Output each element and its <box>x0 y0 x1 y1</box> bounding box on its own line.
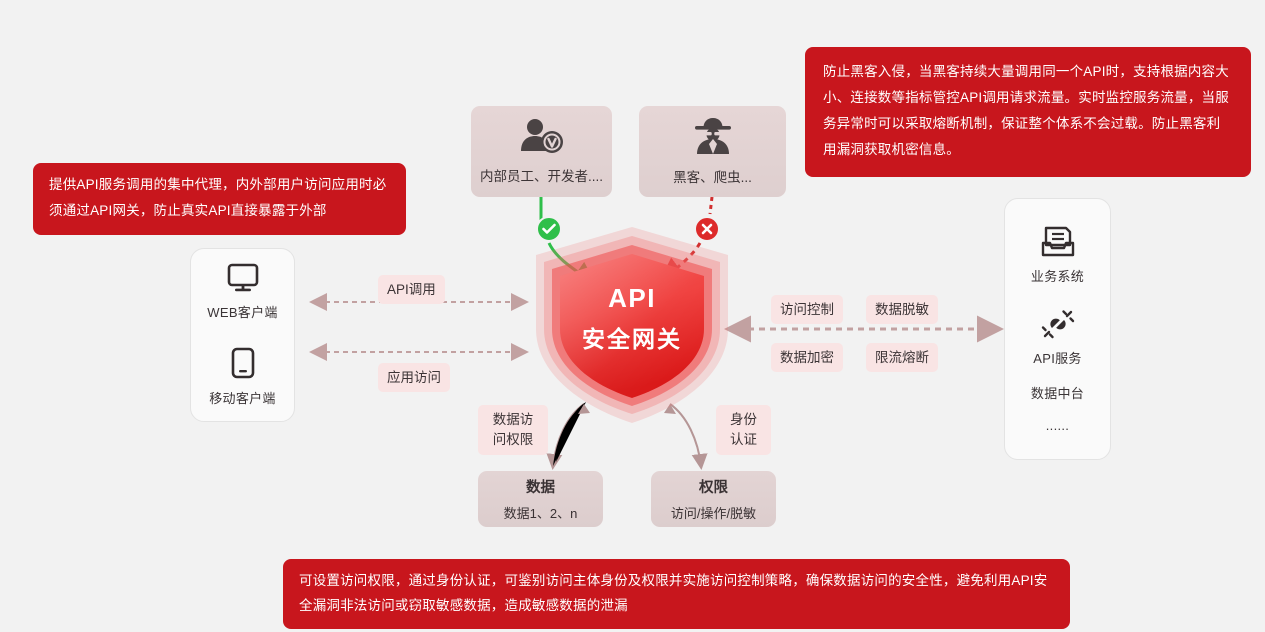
tag-identity-authentication[interactable]: 身份认证 <box>716 405 771 455</box>
tag-api-call[interactable]: API调用 <box>378 275 445 304</box>
entity-card-data[interactable]: 数据 数据1、2、n <box>478 471 603 527</box>
api-plug-icon <box>1039 307 1077 346</box>
systems-panel-label-business: 业务系统 <box>1031 266 1084 285</box>
entity-data-subtitle: 数据1、2、n <box>504 503 578 522</box>
business-system-icon <box>1040 225 1076 264</box>
persona-label-hacker: 黑客、爬虫... <box>673 166 752 186</box>
check-icon <box>536 216 562 242</box>
clients-panel: WEB客户端 移动客户端 <box>190 248 295 422</box>
clients-panel-label-mobile: 移动客户端 <box>209 388 276 407</box>
mobile-phone-icon <box>230 347 256 384</box>
persona-label-internal-staff: 内部员工、开发者.... <box>480 165 603 185</box>
cross-icon <box>694 216 720 242</box>
callout-right-anti-intrusion: 防止黑客入侵，当黑客持续大量调用同一个API时，支持根据内容大小、连接数等指标管… <box>805 47 1251 177</box>
shield-graphic <box>527 225 737 425</box>
api-security-gateway-shield[interactable]: API 安全网关 <box>527 225 737 425</box>
systems-panel-label-ellipsis: ...... <box>1046 418 1069 433</box>
systems-panel-label-api: API服务 <box>1033 348 1081 367</box>
desktop-monitor-icon <box>226 263 260 298</box>
persona-card-hacker[interactable]: 黑客、爬虫... <box>639 106 786 197</box>
tag-data-access-permission[interactable]: 数据访问权限 <box>478 405 548 455</box>
tag-data-desensitization[interactable]: 数据脱敏 <box>866 295 938 324</box>
tag-data-encryption[interactable]: 数据加密 <box>771 343 843 372</box>
entity-perm-subtitle: 访问/操作/脱敏 <box>671 503 756 522</box>
systems-panel: 业务系统 API服务 数据中台 ...... <box>1004 198 1111 460</box>
tag-app-access[interactable]: 应用访问 <box>378 363 450 392</box>
callout-bottom-access-control: 可设置访问权限，通过身份认证，可鉴别访问主体身份及权限并实施访问控制策略，确保数… <box>283 559 1070 629</box>
hacker-icon <box>691 117 735 160</box>
entity-perm-title: 权限 <box>699 476 728 497</box>
persona-card-internal-staff[interactable]: 内部员工、开发者.... <box>471 106 612 197</box>
callout-left-proxy: 提供API服务调用的集中代理，内外部用户访问应用时必须通过API网关，防止真实A… <box>33 163 406 235</box>
diagram-canvas: 提供API服务调用的集中代理，内外部用户访问应用时必须通过API网关，防止真实A… <box>0 0 1265 632</box>
verified-user-icon <box>519 118 565 159</box>
clients-panel-label-web: WEB客户端 <box>207 302 277 321</box>
entity-card-permission[interactable]: 权限 访问/操作/脱敏 <box>651 471 776 527</box>
tag-access-control[interactable]: 访问控制 <box>771 295 843 324</box>
tag-rate-limit-circuit-breaker[interactable]: 限流熔断 <box>866 343 938 372</box>
systems-panel-label-data-platform: 数据中台 <box>1031 383 1084 402</box>
entity-data-title: 数据 <box>526 476 555 497</box>
